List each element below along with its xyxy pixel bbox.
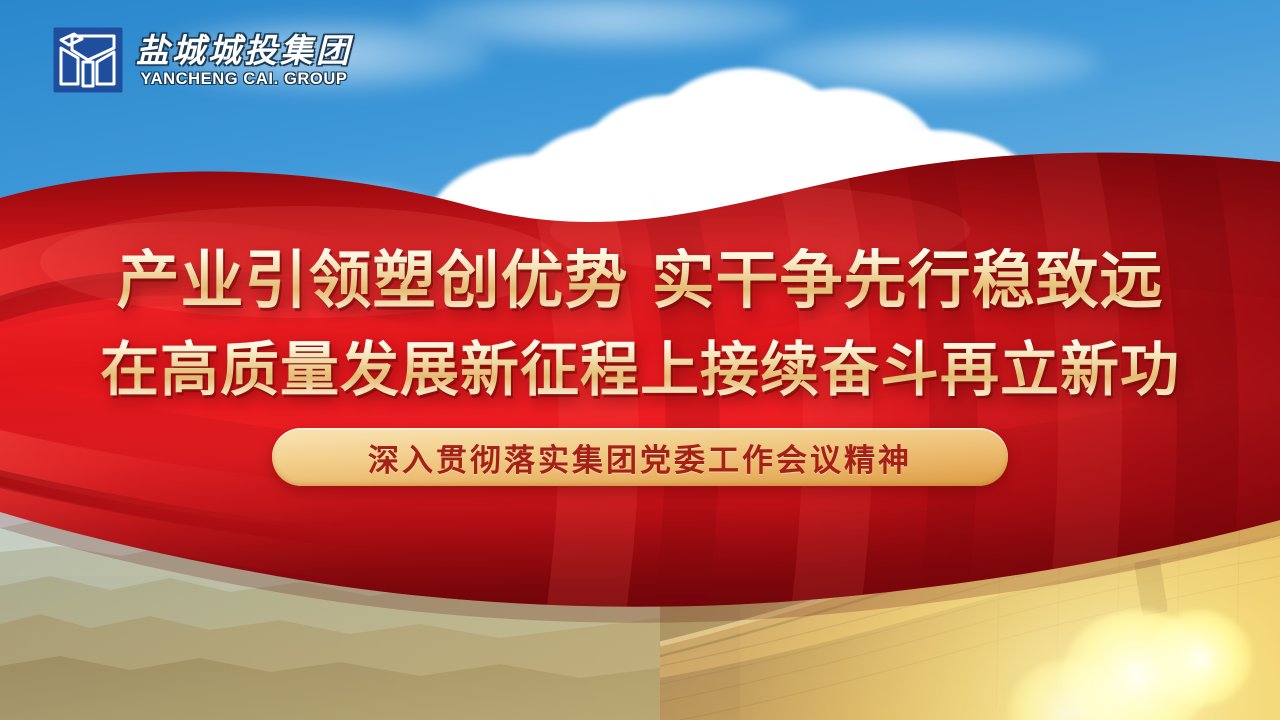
subtitle-pill: 深入贯彻落实集团党委工作会议精神 <box>272 428 1008 486</box>
brand-name-en: YANCHENG CAI. GROUP <box>141 70 348 89</box>
brand-wordmark: 盐城城投集团 YANCHENG CAI. GROUP <box>136 33 352 89</box>
headline-line-2: 在高质量发展新征程上接续奋斗再立新功 <box>0 339 1280 402</box>
headline-line-1: 产业引领塑创优势 实干争先行稳致远 <box>0 248 1280 315</box>
banner-canvas: 盐城城投集团 YANCHENG CAI. GROUP 产业引领塑创优势 实干争先… <box>0 0 1280 720</box>
subtitle-text: 深入贯彻落实集团党委工作会议精神 <box>368 435 912 480</box>
headline-block: 产业引领塑创优势 实干争先行稳致远 在高质量发展新征程上接续奋斗再立新功 <box>0 248 1280 401</box>
brand-logo[interactable]: 盐城城投集团 YANCHENG CAI. GROUP <box>52 26 352 94</box>
brand-name-cn: 盐城城投集团 <box>136 33 352 69</box>
yancheng-cai-group-logo-icon <box>52 26 124 94</box>
